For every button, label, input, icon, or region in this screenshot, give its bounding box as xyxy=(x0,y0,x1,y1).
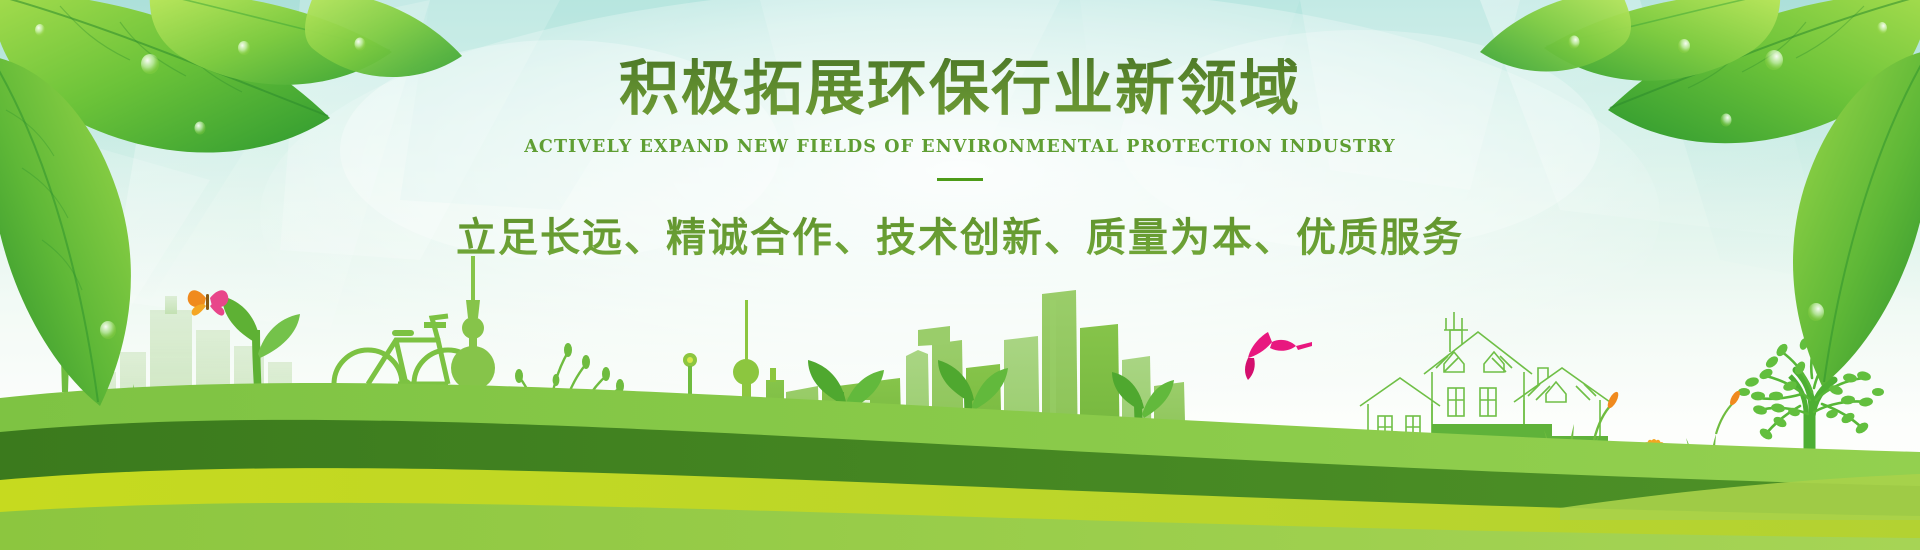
leaf-group-right xyxy=(1480,0,1920,386)
eco-banner: 积极拓展环保行业新领域 ACTIVELY EXPAND NEW FIELDS O… xyxy=(0,0,1920,550)
leaves-top-right xyxy=(0,0,1920,550)
